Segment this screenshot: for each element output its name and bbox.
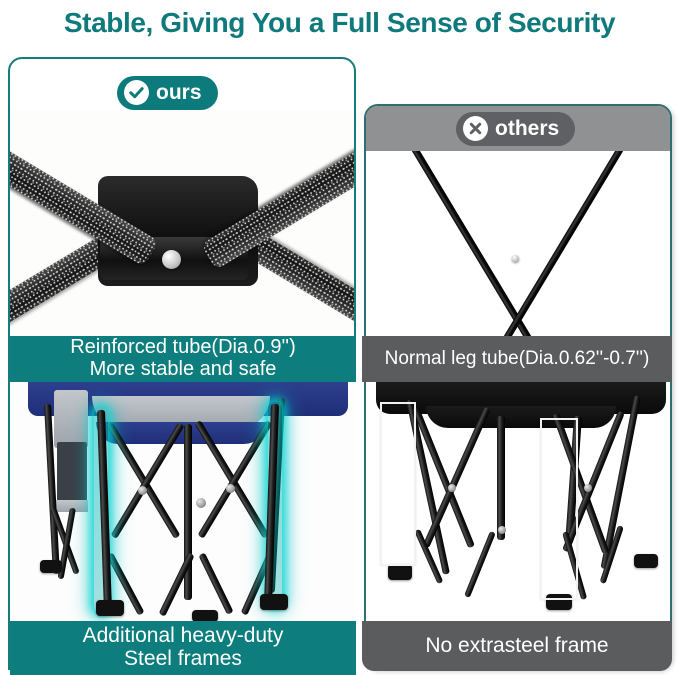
black-chair-fabric-lower <box>426 406 616 428</box>
chair-joint-left <box>138 486 147 495</box>
black-foot-left <box>388 564 412 580</box>
black-foot-right <box>634 554 658 568</box>
others-bottom-caption-line1: No extrasteel frame <box>425 635 608 658</box>
check-circle-icon <box>124 80 149 105</box>
chair-joint-right <box>226 484 235 493</box>
thin-tube-rivet <box>512 255 519 262</box>
chair-foot-far-left <box>40 560 62 573</box>
x-circle-icon <box>463 116 488 141</box>
others-bottom-caption: No extrasteel frame <box>362 621 672 671</box>
ours-bottom-caption-line2: Steel frames <box>83 648 284 671</box>
chair-foot-left <box>96 600 124 616</box>
missing-frame-box-left <box>380 402 416 566</box>
chair-foot-center <box>192 610 218 621</box>
chair-joint-center <box>196 498 206 508</box>
others-badge: others <box>456 112 575 146</box>
black-joint-right <box>584 484 592 492</box>
page-title: Stable, Giving You a Full Sense of Secur… <box>0 2 679 44</box>
ours-chair-photo <box>10 382 356 621</box>
black-joint-left <box>448 484 456 492</box>
ours-badge-label: ours <box>156 81 202 105</box>
others-top-caption: Normal leg tube(Dia.0.62''-0.7'') <box>362 336 672 382</box>
black-joint-center <box>498 526 506 534</box>
ours-badge: ours <box>117 76 218 110</box>
ours-top-caption: Reinforced tube(Dia.0.9'') More stable a… <box>10 336 356 382</box>
black-center-post <box>497 416 505 540</box>
others-chair-photo <box>366 382 670 621</box>
others-badge-label: others <box>495 117 559 141</box>
chair-pocket-top <box>54 390 88 448</box>
ours-top-caption-line1: Reinforced tube(Dia.0.9'') <box>70 337 296 359</box>
ours-bottom-caption: Additional heavy-duty Steel frames <box>10 621 356 675</box>
chair-foot-right <box>260 594 288 610</box>
others-tube-photo <box>366 151 670 339</box>
ours-top-caption-line2: More stable and safe <box>70 359 296 381</box>
ours-tube-photo <box>10 110 354 336</box>
ours-bottom-caption-line1: Additional heavy-duty <box>83 625 284 648</box>
hub-rivet <box>162 250 181 269</box>
chair-pocket <box>57 442 87 504</box>
chair-lower-brace-c <box>198 552 233 614</box>
infographic-root: Stable, Giving You a Full Sense of Secur… <box>0 0 679 675</box>
others-top-caption-line1: Normal leg tube(Dia.0.62''-0.7'') <box>385 349 650 370</box>
missing-frame-box-right <box>540 418 578 600</box>
